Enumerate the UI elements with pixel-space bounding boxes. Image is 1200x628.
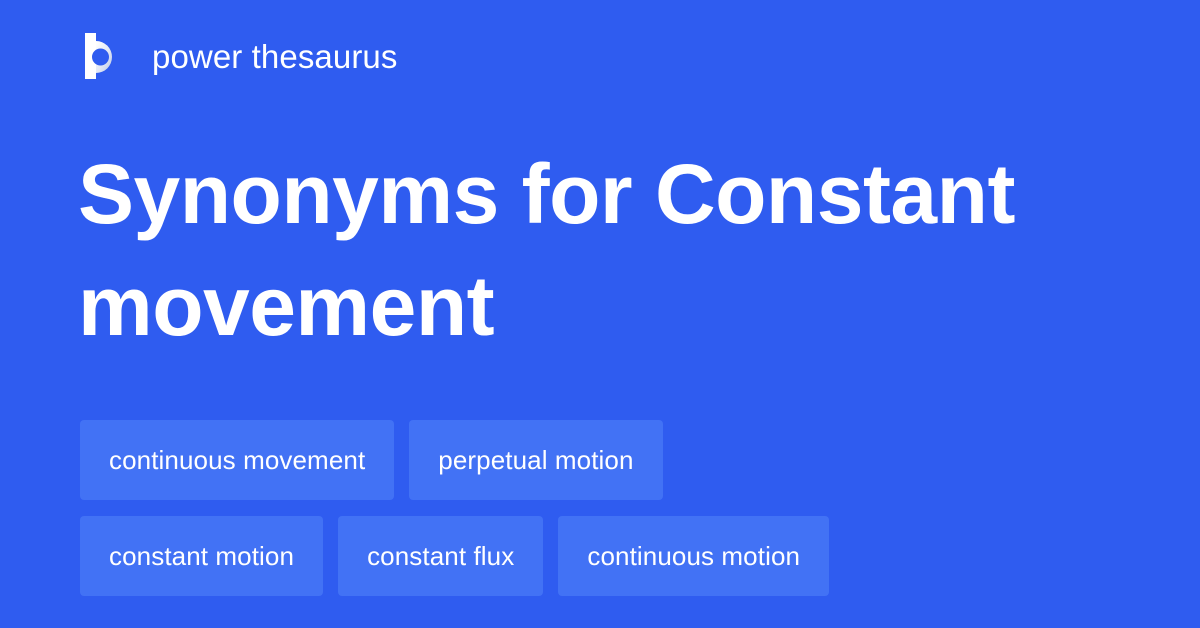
- synonym-chip[interactable]: constant motion: [80, 516, 323, 596]
- page-title: Synonyms for Constant movement: [78, 138, 1078, 362]
- power-thesaurus-logo-icon: [80, 31, 130, 81]
- brand-name: power thesaurus: [152, 40, 397, 73]
- synonym-row: continuous movement perpetual motion: [80, 420, 1140, 500]
- synonym-chip[interactable]: continuous motion: [558, 516, 829, 596]
- synonym-chip[interactable]: continuous movement: [80, 420, 394, 500]
- synonym-list: continuous movement perpetual motion con…: [80, 420, 1140, 596]
- page-title-line-2: movement: [78, 250, 1078, 362]
- synonym-chip[interactable]: perpetual motion: [409, 420, 662, 500]
- page-title-line-1: Synonyms for Constant: [78, 138, 1078, 250]
- synonym-row: constant motion constant flux continuous…: [80, 516, 1140, 596]
- synonym-chip[interactable]: constant flux: [338, 516, 543, 596]
- brand-header[interactable]: power thesaurus: [80, 30, 397, 82]
